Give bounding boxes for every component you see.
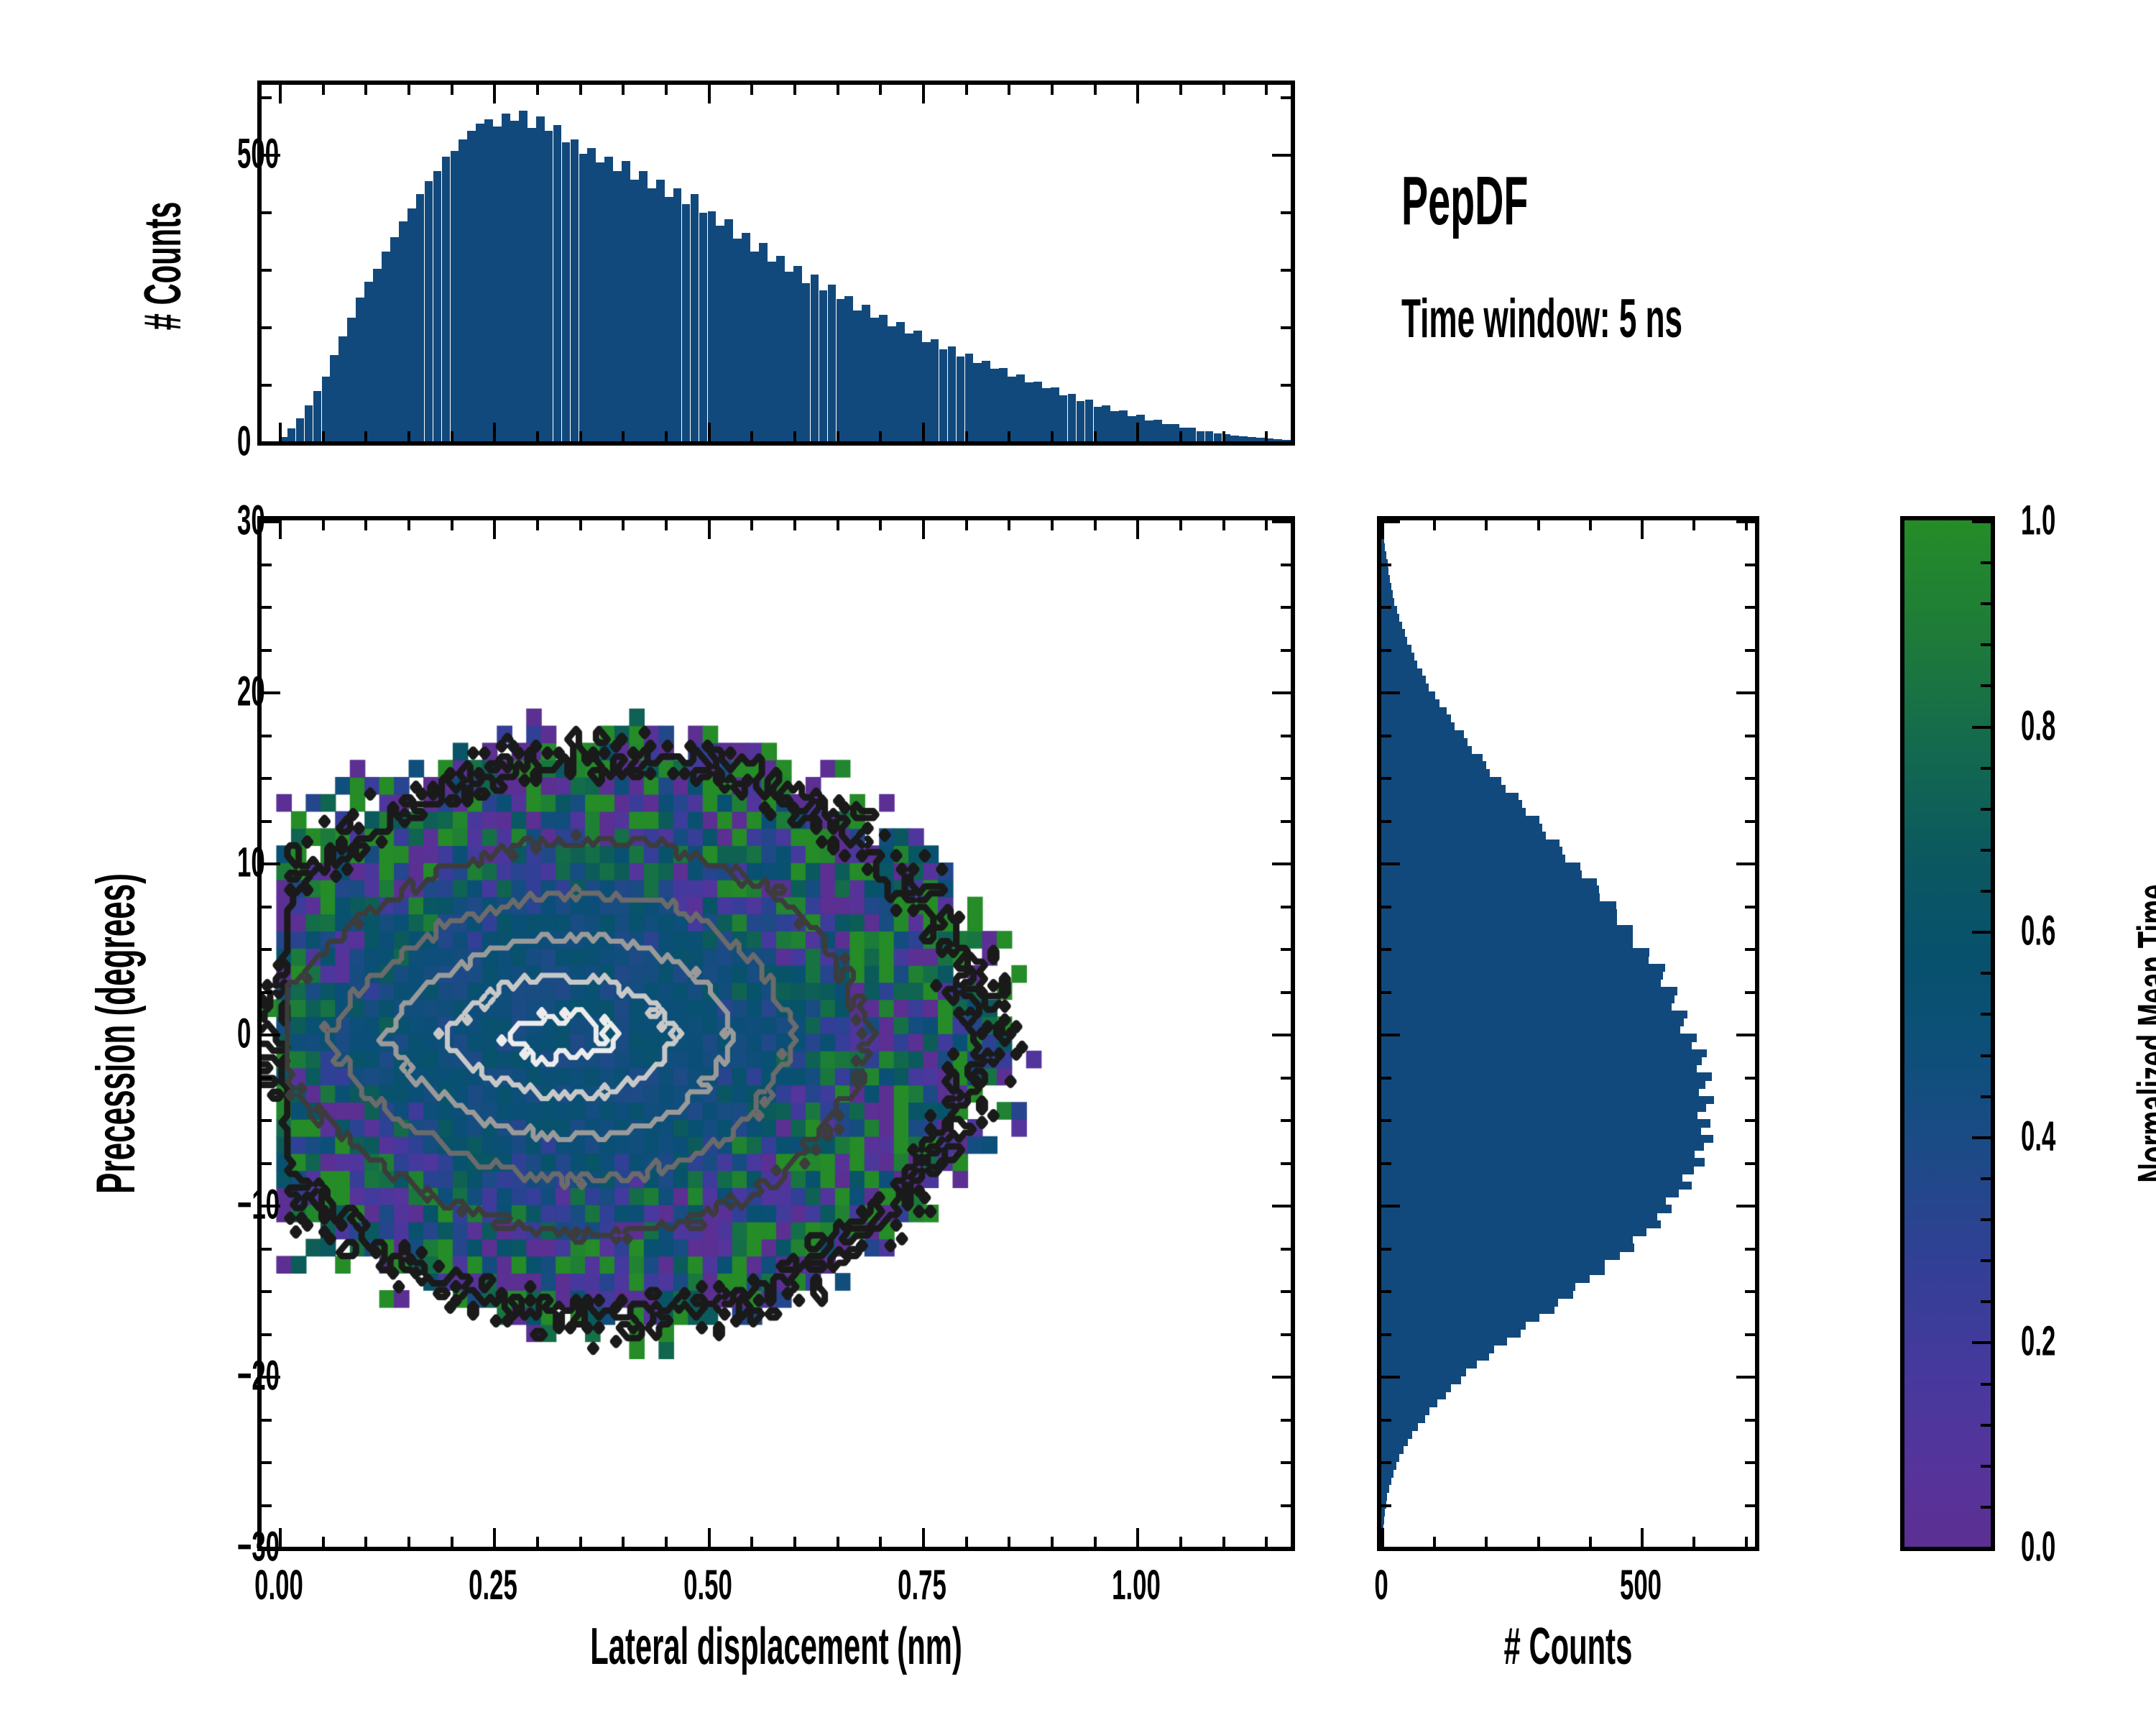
histogram-bar xyxy=(1381,761,1486,770)
minor-tick xyxy=(1745,1248,1755,1251)
minor-tick xyxy=(262,777,272,780)
minor-tick xyxy=(1381,1333,1391,1336)
minor-tick xyxy=(262,1290,272,1293)
minor-tick xyxy=(1981,1177,1991,1180)
minor-tick xyxy=(793,431,796,441)
histogram-bar xyxy=(1381,543,1385,552)
minor-tick xyxy=(1433,520,1436,530)
colorbar-tick-label: 0.0 xyxy=(2021,1523,2055,1571)
minor-tick xyxy=(262,948,272,951)
histogram-bar xyxy=(510,121,519,441)
histogram-bar xyxy=(1381,1345,1494,1353)
major-tick xyxy=(1972,1341,1991,1344)
histogram-bar xyxy=(1381,1353,1489,1361)
minor-tick xyxy=(364,1537,367,1547)
histogram-bar xyxy=(828,285,837,441)
histogram-bar xyxy=(1381,870,1582,879)
histogram-bar xyxy=(1381,590,1393,599)
minor-tick xyxy=(1745,1119,1755,1122)
major-tick xyxy=(1972,520,1991,523)
minor-tick xyxy=(536,431,539,441)
histogram-bar xyxy=(1381,878,1597,887)
minor-tick xyxy=(665,431,668,441)
main-joint-histogram-panel xyxy=(257,516,1295,1551)
minor-tick xyxy=(407,431,410,441)
minor-tick xyxy=(1981,1465,1991,1468)
minor-tick xyxy=(1281,1419,1291,1422)
major-tick xyxy=(922,520,925,539)
minor-tick xyxy=(451,520,453,530)
minor-tick xyxy=(364,85,367,95)
colorbar-title: Normalized Mean Time xyxy=(2127,884,2156,1182)
minor-tick xyxy=(879,520,882,530)
minor-tick xyxy=(579,431,582,441)
histogram-bar xyxy=(1381,808,1526,816)
minor-tick xyxy=(750,1537,753,1547)
major-tick xyxy=(1972,931,1991,934)
minor-tick xyxy=(1094,85,1097,95)
histogram-bar xyxy=(1381,940,1633,949)
histogram-bar xyxy=(1381,699,1439,708)
histogram-bar xyxy=(390,237,399,441)
histogram-bar xyxy=(330,355,338,441)
histogram-bar xyxy=(1381,1391,1446,1400)
minor-tick xyxy=(1745,777,1755,780)
histogram-bar xyxy=(1128,416,1136,441)
minor-tick xyxy=(1981,849,1991,852)
histogram-bar xyxy=(356,298,364,441)
histogram-bar xyxy=(1381,1119,1710,1128)
histogram-bar xyxy=(562,142,571,441)
histogram-bar xyxy=(571,139,579,441)
histogram-bar xyxy=(1381,1205,1672,1213)
histogram-bar xyxy=(1171,424,1179,441)
histogram-bar xyxy=(1381,1088,1699,1097)
major-tick xyxy=(1272,520,1291,523)
major-tick xyxy=(1136,423,1139,441)
major-tick xyxy=(1736,1205,1755,1207)
histogram-bar xyxy=(1381,769,1490,778)
minor-tick xyxy=(1381,735,1391,737)
x-tick-label: 1.00 xyxy=(1112,1561,1161,1609)
histogram-bar xyxy=(1188,428,1197,441)
minor-tick xyxy=(1745,1290,1755,1293)
histogram-bar xyxy=(1381,1477,1391,1486)
histogram-bar xyxy=(853,310,862,441)
minor-tick xyxy=(1265,1537,1268,1547)
histogram-bar xyxy=(1381,1041,1692,1050)
histogram-bar xyxy=(451,151,459,441)
histogram-bar xyxy=(1381,1111,1697,1120)
figure-subtitle: Time window: 5 ns xyxy=(1401,287,1682,350)
colorbar-tick-label: 0.8 xyxy=(2021,701,2055,750)
colorbar-tick-label: 0.2 xyxy=(2021,1317,2055,1366)
minor-tick xyxy=(262,606,272,609)
histogram-bar xyxy=(1381,1321,1526,1330)
histogram-bar xyxy=(519,111,528,441)
histogram-bar xyxy=(699,213,708,441)
minor-tick xyxy=(1281,1461,1291,1464)
major-tick xyxy=(1381,520,1400,523)
histogram-bar xyxy=(1381,1228,1646,1236)
histogram-bar xyxy=(296,418,305,441)
minor-tick xyxy=(322,520,325,530)
histogram-bar xyxy=(1381,676,1426,684)
histogram-bar xyxy=(1381,1469,1393,1478)
major-tick xyxy=(1641,1528,1644,1547)
histogram-bar xyxy=(1381,885,1599,894)
histogram-bar xyxy=(768,262,776,441)
histogram-bar xyxy=(913,331,922,441)
histogram-bar xyxy=(1381,1026,1680,1034)
histogram-bar xyxy=(1381,1298,1558,1307)
right-marginal-histogram-panel xyxy=(1377,516,1759,1551)
histogram-bar xyxy=(604,157,613,441)
histogram-bar xyxy=(442,157,451,441)
minor-tick xyxy=(262,269,272,272)
histogram-bar xyxy=(1256,438,1265,441)
histogram-bar xyxy=(630,180,639,441)
minor-tick xyxy=(262,735,272,737)
major-tick xyxy=(279,423,282,441)
minor-tick xyxy=(262,1461,272,1464)
histogram-bar xyxy=(1381,1220,1661,1229)
histogram-bar xyxy=(1016,374,1025,441)
histogram-bar xyxy=(1381,1096,1714,1105)
histogram-bar xyxy=(493,126,502,441)
minor-tick xyxy=(1381,1077,1391,1080)
major-tick xyxy=(279,85,282,103)
colorbar-tick-label: 0.6 xyxy=(2021,907,2055,955)
histogram-bar xyxy=(742,233,750,441)
minor-tick xyxy=(1433,1537,1436,1547)
histogram-bar xyxy=(433,171,442,441)
histogram-bar xyxy=(1119,410,1128,441)
minor-tick xyxy=(1381,1119,1391,1122)
minor-tick xyxy=(579,85,582,95)
minor-tick xyxy=(1281,606,1291,609)
histogram-bar xyxy=(673,188,682,441)
minor-tick xyxy=(1051,431,1054,441)
major-tick xyxy=(1381,1528,1384,1547)
minor-tick xyxy=(622,85,625,95)
minor-tick xyxy=(837,85,839,95)
histogram-bar xyxy=(1102,405,1110,441)
histogram-bar xyxy=(399,221,407,441)
minor-tick xyxy=(1381,1419,1391,1422)
histogram-bar xyxy=(425,181,433,441)
minor-tick xyxy=(1381,606,1391,609)
histogram-bar xyxy=(1381,1337,1507,1345)
minor-tick xyxy=(1381,649,1391,652)
minor-tick xyxy=(1745,1504,1755,1507)
minor-tick xyxy=(262,211,272,214)
minor-tick xyxy=(837,431,839,441)
minor-tick xyxy=(1745,649,1755,652)
minor-tick xyxy=(1008,1537,1010,1547)
histogram-bar xyxy=(1145,420,1153,441)
joint-histogram-canvas xyxy=(262,520,1291,1547)
minor-tick xyxy=(1745,1461,1755,1464)
minor-tick xyxy=(1281,948,1291,951)
histogram-bar xyxy=(1381,754,1483,763)
minor-tick xyxy=(1094,520,1097,530)
major-tick xyxy=(1736,1547,1755,1550)
histogram-bar xyxy=(1381,714,1451,723)
histogram-bar xyxy=(1381,1306,1554,1315)
minor-tick xyxy=(622,431,625,441)
histogram-bar xyxy=(1381,956,1649,965)
minor-tick xyxy=(1537,520,1540,530)
histogram-bar xyxy=(1381,1197,1666,1205)
histogram-bar xyxy=(1381,1236,1633,1244)
minor-tick xyxy=(536,1537,539,1547)
histogram-bar xyxy=(1381,707,1447,716)
histogram-bar xyxy=(1153,420,1162,441)
histogram-bar xyxy=(1381,661,1417,669)
minor-tick xyxy=(1179,1537,1182,1547)
major-tick xyxy=(1272,154,1291,157)
major-tick xyxy=(1736,862,1755,865)
histogram-bar xyxy=(347,318,356,441)
histogram-bar xyxy=(896,322,905,441)
minor-tick xyxy=(1281,211,1291,214)
histogram-bar xyxy=(939,349,948,441)
histogram-bar xyxy=(338,336,347,441)
histogram-bar xyxy=(1381,1438,1408,1447)
major-tick xyxy=(1272,1205,1291,1207)
histogram-bar xyxy=(1025,382,1033,441)
histogram-bar xyxy=(1381,1135,1713,1144)
histogram-bar xyxy=(733,239,742,441)
histogram-bar xyxy=(776,256,785,441)
minor-tick xyxy=(407,520,410,530)
histogram-bar xyxy=(1381,1034,1697,1042)
figure-title: PepDF xyxy=(1401,162,1528,241)
histogram-bar xyxy=(1381,1064,1697,1073)
histogram-bar xyxy=(724,219,733,441)
histogram-bar xyxy=(1059,395,1068,441)
histogram-bar xyxy=(1381,1142,1704,1151)
minor-tick xyxy=(1745,1077,1755,1080)
histogram-bar xyxy=(1381,893,1600,902)
histogram-bar xyxy=(1381,839,1560,848)
histogram-bar xyxy=(1381,1508,1385,1517)
major-tick xyxy=(1136,85,1139,103)
minor-tick xyxy=(1981,1259,1991,1262)
histogram-bar xyxy=(579,154,588,441)
histogram-bar xyxy=(1381,979,1661,988)
minor-tick xyxy=(1692,1537,1695,1547)
histogram-bar xyxy=(1381,785,1506,793)
minor-tick xyxy=(1381,563,1391,566)
major-tick xyxy=(262,441,280,444)
minor-tick xyxy=(879,431,882,441)
colorbar xyxy=(1900,516,1995,1551)
minor-tick xyxy=(1745,906,1755,908)
minor-tick xyxy=(262,96,272,99)
minor-tick xyxy=(1281,1290,1291,1293)
minor-tick xyxy=(965,520,968,530)
histogram-bar xyxy=(716,226,724,441)
minor-tick xyxy=(579,520,582,530)
minor-tick xyxy=(1981,972,1991,975)
minor-tick xyxy=(451,85,453,95)
histogram-bar xyxy=(553,125,562,441)
major-tick xyxy=(1972,1547,1991,1550)
histogram-bar xyxy=(1239,436,1248,441)
right-histogram-axis-title: # Counts xyxy=(1504,1617,1633,1676)
minor-tick xyxy=(1981,1383,1991,1386)
histogram-bar xyxy=(1381,909,1617,918)
histogram-bar xyxy=(1381,1166,1694,1174)
histogram-bar xyxy=(656,180,665,441)
histogram-bar xyxy=(1381,1072,1712,1081)
histogram-bar xyxy=(1381,932,1633,941)
histogram-bar xyxy=(1381,901,1616,910)
minor-tick xyxy=(1094,1537,1097,1547)
histogram-bar xyxy=(1381,1127,1701,1136)
histogram-bar xyxy=(1381,1243,1634,1252)
histogram-bar xyxy=(1381,1384,1451,1392)
histogram-bar xyxy=(1205,431,1214,441)
histogram-bar xyxy=(536,116,545,441)
histogram-bar xyxy=(888,326,896,441)
histogram-bar xyxy=(1381,793,1519,801)
minor-tick xyxy=(1381,1162,1391,1165)
histogram-bar xyxy=(622,161,630,441)
major-tick xyxy=(493,85,496,103)
histogram-bar xyxy=(811,275,819,441)
minor-tick xyxy=(965,85,968,95)
minor-tick xyxy=(1281,269,1291,272)
histogram-bar xyxy=(373,269,382,441)
minor-tick xyxy=(322,431,325,441)
minor-tick xyxy=(1008,520,1010,530)
minor-tick xyxy=(1981,1054,1991,1057)
histogram-bar xyxy=(1381,738,1468,747)
minor-tick xyxy=(879,85,882,95)
histogram-bar xyxy=(759,243,768,441)
minor-tick xyxy=(364,520,367,530)
histogram-bar xyxy=(879,315,888,441)
minor-tick xyxy=(1981,684,1991,687)
histogram-bar xyxy=(1381,567,1388,576)
histogram-bar xyxy=(648,188,656,441)
histogram-bar xyxy=(1381,1018,1684,1026)
histogram-bar xyxy=(1381,971,1663,980)
minor-tick xyxy=(536,85,539,95)
histogram-bar xyxy=(1381,1274,1590,1283)
major-tick xyxy=(708,520,711,539)
minor-tick xyxy=(1008,85,1010,95)
major-tick xyxy=(1272,441,1291,444)
minor-tick xyxy=(1051,1537,1054,1547)
histogram-bar xyxy=(1381,1251,1620,1260)
minor-tick xyxy=(1981,808,1991,811)
histogram-bar xyxy=(1381,1430,1412,1439)
histogram-bar xyxy=(1381,855,1565,863)
major-tick xyxy=(1381,862,1400,865)
minor-tick xyxy=(1281,326,1291,329)
histogram-bar xyxy=(1381,816,1539,824)
histogram-bar xyxy=(416,194,425,441)
minor-tick xyxy=(1692,520,1695,530)
minor-tick xyxy=(579,1537,582,1547)
histogram-bar xyxy=(1042,388,1051,441)
minor-tick xyxy=(1745,1419,1755,1422)
histogram-bar xyxy=(1381,1484,1389,1493)
histogram-bar xyxy=(1214,433,1222,441)
colorbar-tick-label: 1.0 xyxy=(2021,497,2055,545)
histogram-bar xyxy=(1033,382,1042,441)
minor-tick xyxy=(1281,1162,1291,1165)
minor-tick xyxy=(1381,820,1391,823)
minor-tick xyxy=(750,520,753,530)
minor-tick xyxy=(1094,431,1097,441)
histogram-bar xyxy=(1110,411,1119,441)
minor-tick xyxy=(1745,948,1755,951)
histogram-bar xyxy=(1381,917,1617,926)
histogram-bar xyxy=(1381,746,1472,755)
histogram-bar xyxy=(1381,668,1422,677)
minor-tick xyxy=(965,431,968,441)
histogram-bar xyxy=(999,368,1008,441)
major-tick xyxy=(1972,726,1991,729)
major-tick xyxy=(708,85,711,103)
histogram-bar xyxy=(407,208,416,441)
minor-tick xyxy=(1281,1119,1291,1122)
histogram-bar xyxy=(1381,1267,1605,1276)
histogram-bar xyxy=(1381,1445,1404,1454)
major-tick xyxy=(262,1034,280,1036)
minor-tick xyxy=(1281,384,1291,387)
histogram-bar xyxy=(1381,614,1399,622)
minor-tick xyxy=(1485,1537,1488,1547)
histogram-bar xyxy=(1381,1158,1705,1167)
minor-tick xyxy=(1981,767,1991,770)
minor-tick xyxy=(1008,431,1010,441)
histogram-bar xyxy=(1381,777,1501,786)
histogram-bar xyxy=(1381,1174,1682,1182)
histogram-bar xyxy=(1381,1259,1605,1268)
histogram-bar xyxy=(459,139,467,441)
histogram-bar xyxy=(1381,925,1633,934)
histogram-bar xyxy=(1381,1516,1384,1524)
minor-tick xyxy=(1179,520,1182,530)
minor-tick xyxy=(322,85,325,95)
minor-tick xyxy=(1981,890,1991,893)
x-tick-label: 500 xyxy=(1620,1561,1662,1609)
histogram-bar xyxy=(973,363,982,441)
histogram-bar xyxy=(1248,437,1256,441)
minor-tick xyxy=(536,520,539,530)
minor-tick xyxy=(1222,431,1225,441)
major-tick xyxy=(493,520,496,539)
minor-tick xyxy=(1281,1333,1291,1336)
histogram-bar xyxy=(682,204,691,441)
major-tick xyxy=(1736,520,1755,523)
histogram-bar xyxy=(1230,436,1239,441)
histogram-bar xyxy=(691,194,699,441)
minor-tick xyxy=(1381,1248,1391,1251)
major-tick xyxy=(1641,520,1644,539)
right-histogram-bars xyxy=(1381,520,1755,1547)
histogram-bar xyxy=(1381,1182,1692,1190)
minor-tick xyxy=(665,85,668,95)
minor-tick xyxy=(262,820,272,823)
histogram-bar xyxy=(1381,1049,1707,1058)
